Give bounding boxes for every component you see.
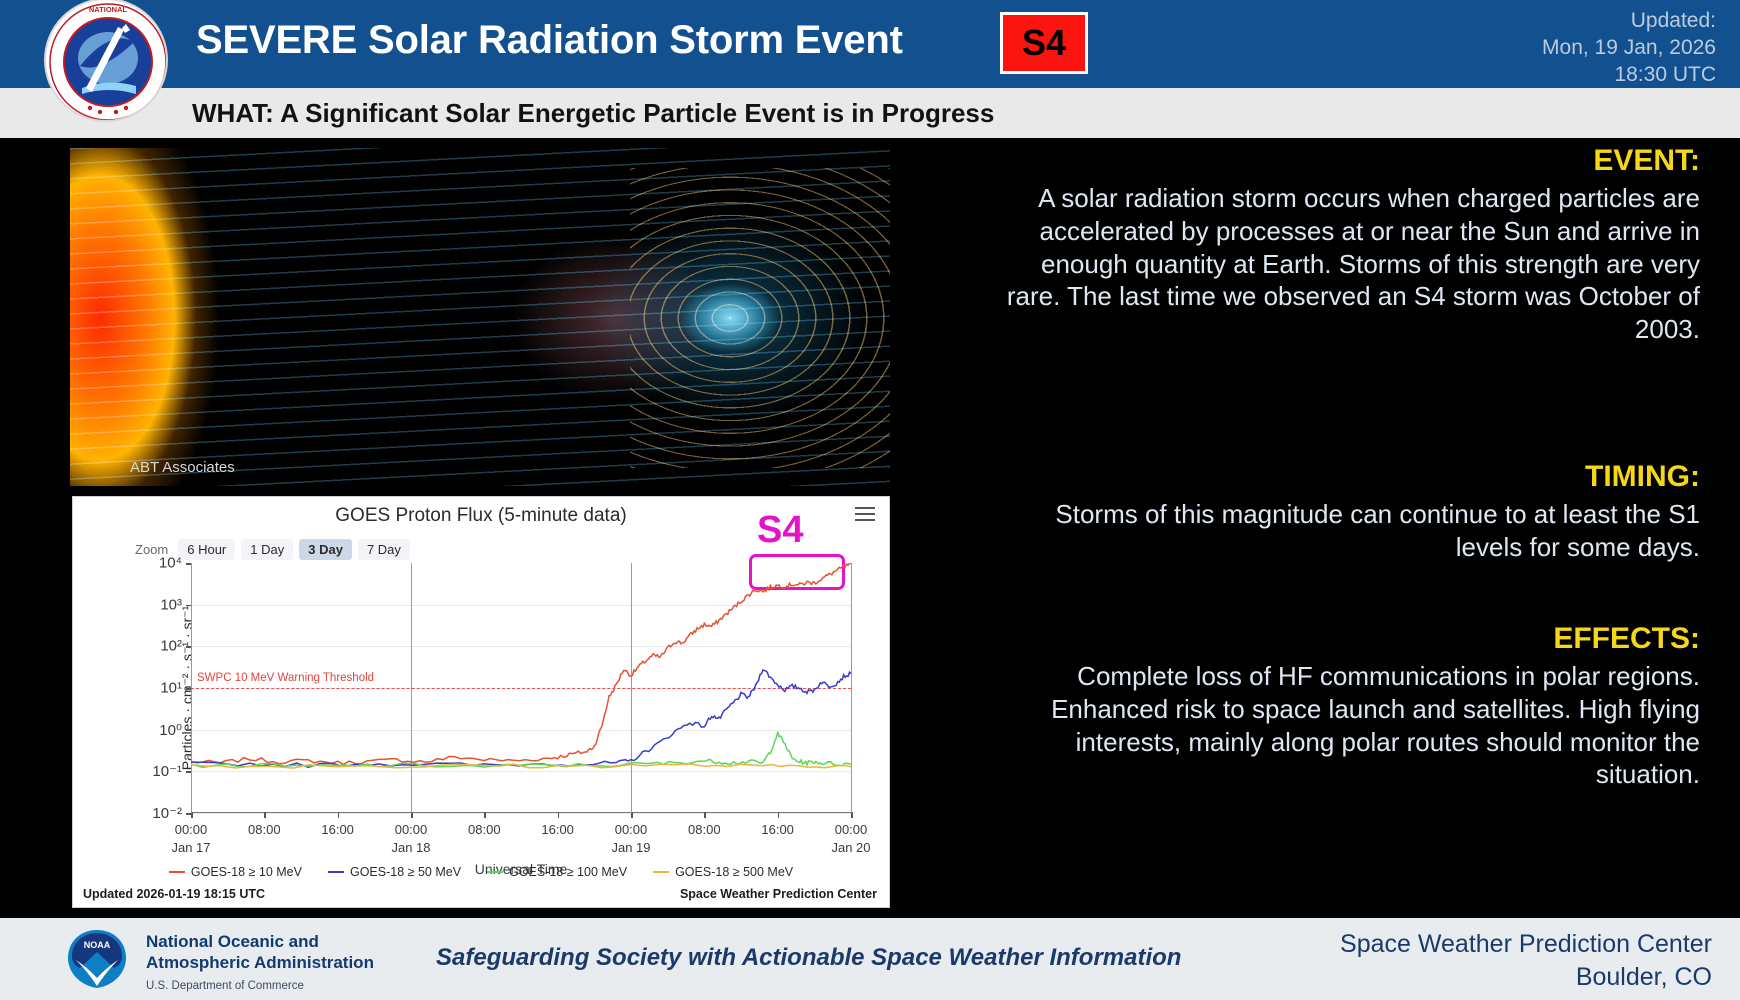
updated-timestamp: Updated: Mon, 19 Jan, 2026 18:30 UTC bbox=[1542, 8, 1716, 89]
noaa-agency-line1: National Oceanic and bbox=[146, 932, 374, 953]
event-body: A solar radiation storm occurs when char… bbox=[1000, 182, 1700, 346]
legend-swatch bbox=[328, 871, 344, 874]
page-footer: NOAA National Oceanic and Atmospheric Ad… bbox=[0, 918, 1740, 1000]
x-tick-label: 00:00Jan 20 bbox=[831, 821, 870, 857]
y-tick-label: 10⁻² bbox=[152, 804, 182, 822]
legend-swatch bbox=[169, 871, 185, 874]
chart-series-line bbox=[191, 732, 851, 768]
grid-line-vertical bbox=[851, 563, 852, 813]
chart-updated-timestamp: Updated 2026-01-19 18:15 UTC bbox=[83, 887, 265, 901]
timing-body: Storms of this magnitude can continue to… bbox=[1000, 498, 1700, 564]
effects-heading: EFFECTS: bbox=[1000, 622, 1700, 656]
event-heading: EVENT: bbox=[1000, 144, 1700, 178]
chart-legend: GOES-18 ≥ 10 MeV GOES-18 ≥ 50 MeV GOES-1… bbox=[73, 865, 889, 879]
svg-text:NATIONAL: NATIONAL bbox=[89, 5, 128, 14]
x-tick-label: 16:00 bbox=[761, 821, 794, 839]
chart-series-line bbox=[191, 563, 851, 764]
chart-series-layer bbox=[191, 563, 851, 813]
x-tick-label: 08:00 bbox=[468, 821, 501, 839]
proton-flux-chart-card: GOES Proton Flux (5-minute data) Zoom 6 … bbox=[72, 496, 890, 908]
zoom-option-3-day[interactable]: 3 Day bbox=[299, 539, 352, 560]
what-bar: WHAT: A Significant Solar Energetic Part… bbox=[0, 88, 1740, 138]
noaa-seagull-icon: NOAA bbox=[66, 928, 128, 990]
legend-item: GOES-18 ≥ 500 MeV bbox=[653, 865, 793, 879]
zoom-option-1-day[interactable]: 1 Day bbox=[241, 539, 293, 560]
y-tick-label: 10³ bbox=[160, 596, 182, 613]
updated-label: Updated: bbox=[1542, 8, 1716, 35]
s4-annotation-label: S4 bbox=[757, 511, 803, 549]
y-tick-label: 10⁴ bbox=[159, 555, 182, 572]
magnetosphere-illustration: ABT Associates bbox=[70, 148, 890, 486]
magnetosphere-dipole-lines bbox=[630, 168, 890, 468]
noaa-agency-name: National Oceanic and Atmospheric Adminis… bbox=[146, 932, 374, 973]
what-bar-text: WHAT: A Significant Solar Energetic Part… bbox=[192, 98, 994, 129]
updated-time: 18:30 UTC bbox=[1542, 62, 1716, 89]
legend-item: GOES-18 ≥ 50 MeV bbox=[328, 865, 461, 879]
y-tick-label: 10¹ bbox=[160, 680, 182, 697]
chart-credit: Space Weather Prediction Center bbox=[680, 887, 877, 901]
y-tick-label: 10² bbox=[160, 638, 182, 655]
x-tick-label: 08:00 bbox=[248, 821, 281, 839]
image-credit: ABT Associates bbox=[130, 459, 235, 476]
main-stage: ABT Associates GOES Proton Flux (5-minut… bbox=[0, 138, 1740, 918]
x-tick-label: 08:00 bbox=[688, 821, 721, 839]
x-tick-label: 00:00Jan 18 bbox=[391, 821, 430, 857]
x-tick-label: 16:00 bbox=[321, 821, 354, 839]
legend-swatch bbox=[653, 871, 669, 874]
hamburger-icon[interactable] bbox=[855, 507, 875, 523]
chart-plot-area: Particles · cm⁻² · s⁻¹ · sr⁻¹ Universal … bbox=[191, 563, 851, 813]
swpc-center-name: Space Weather Prediction Center bbox=[1340, 928, 1712, 961]
zoom-option-7-day[interactable]: 7 Day bbox=[358, 539, 410, 560]
swpc-location: Space Weather Prediction Center Boulder,… bbox=[1340, 928, 1712, 993]
noaa-department: U.S. Department of Commerce bbox=[146, 980, 304, 992]
legend-label: GOES-18 ≥ 50 MeV bbox=[350, 865, 461, 879]
x-tick-label: 16:00 bbox=[541, 821, 574, 839]
page-title: SEVERE Solar Radiation Storm Event bbox=[196, 18, 903, 63]
y-tick-label: 10⁻¹ bbox=[152, 762, 182, 780]
page-header: NATIONAL SEVERE Solar Radiation Storm Ev… bbox=[0, 0, 1740, 88]
info-block-timing: TIMING: Storms of this magnitude can con… bbox=[1000, 460, 1700, 564]
grid-line-horizontal bbox=[191, 813, 851, 814]
zoom-option-6-hour[interactable]: 6 Hour bbox=[178, 539, 235, 560]
swpc-city: Boulder, CO bbox=[1340, 961, 1712, 994]
legend-item: GOES-18 ≥ 10 MeV bbox=[169, 865, 302, 879]
updated-date: Mon, 19 Jan, 2026 bbox=[1542, 35, 1716, 62]
x-tick-label: 00:00Jan 17 bbox=[171, 821, 210, 857]
noaa-agency-line2: Atmospheric Administration bbox=[146, 953, 374, 974]
info-block-event: EVENT: A solar radiation storm occurs wh… bbox=[1000, 144, 1700, 346]
info-panel: EVENT: A solar radiation storm occurs wh… bbox=[960, 138, 1700, 918]
footer-tagline: Safeguarding Society with Actionable Spa… bbox=[436, 944, 1181, 972]
legend-label: GOES-18 ≥ 10 MeV bbox=[191, 865, 302, 879]
legend-item: GOES-18 ≥ 100 MeV bbox=[487, 865, 627, 879]
chart-series-line bbox=[191, 670, 851, 767]
legend-label: GOES-18 ≥ 500 MeV bbox=[675, 865, 793, 879]
y-tick-label: 10⁰ bbox=[159, 721, 182, 739]
legend-swatch bbox=[487, 871, 503, 874]
legend-label: GOES-18 ≥ 100 MeV bbox=[509, 865, 627, 879]
effects-body: Complete loss of HF communications in po… bbox=[1000, 660, 1700, 791]
nws-roundel-icon: NATIONAL bbox=[44, 0, 168, 122]
timing-heading: TIMING: bbox=[1000, 460, 1700, 494]
info-block-effects: EFFECTS: Complete loss of HF communicati… bbox=[1000, 622, 1700, 791]
storm-scale-badge: S4 bbox=[1000, 12, 1088, 74]
svg-text:NOAA: NOAA bbox=[84, 940, 111, 950]
x-tick-label: 00:00Jan 19 bbox=[611, 821, 650, 857]
